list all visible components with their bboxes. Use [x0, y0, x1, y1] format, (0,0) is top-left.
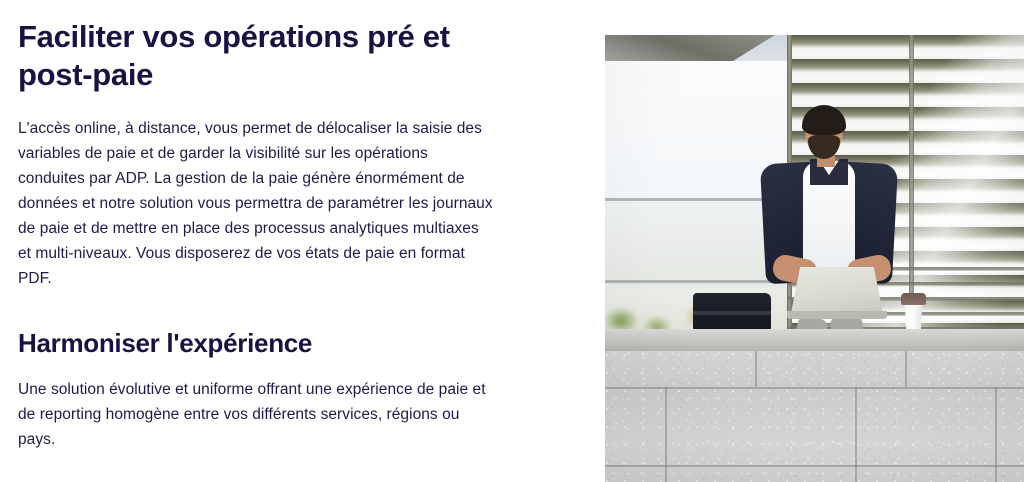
hero-photo — [605, 35, 1024, 482]
beard — [808, 135, 840, 159]
photo-scene — [605, 35, 1024, 482]
harmoniser-paragraph: Une solution évolutive et uniforme offra… — [18, 377, 496, 452]
page-root: Faciliter vos opérations pré et post-pai… — [0, 0, 1024, 475]
section-heading-harmoniser: Harmoniser l'expérience — [18, 327, 518, 359]
concrete-ledge-top — [605, 329, 1024, 351]
concrete-seam — [905, 351, 907, 387]
content-column: Faciliter vos opérations pré et post-pai… — [18, 18, 518, 458]
concrete-texture — [605, 351, 1024, 482]
laptop-screen — [791, 267, 883, 313]
laptop-base — [787, 311, 887, 319]
concrete-seam — [855, 387, 857, 482]
concrete-seam — [665, 387, 667, 482]
concrete-seam — [605, 465, 1024, 467]
coffee-cup-lid — [901, 293, 926, 305]
concrete-seam — [605, 387, 1024, 389]
page-title: Faciliter vos opérations pré et post-pai… — [18, 18, 488, 94]
concrete-seam — [995, 387, 997, 482]
concrete-wall — [605, 351, 1024, 482]
intro-paragraph: L'accès online, à distance, vous permet … — [18, 116, 496, 291]
hair — [802, 105, 846, 135]
laptop-bag-fold — [693, 311, 771, 315]
concrete-seam — [755, 351, 757, 387]
